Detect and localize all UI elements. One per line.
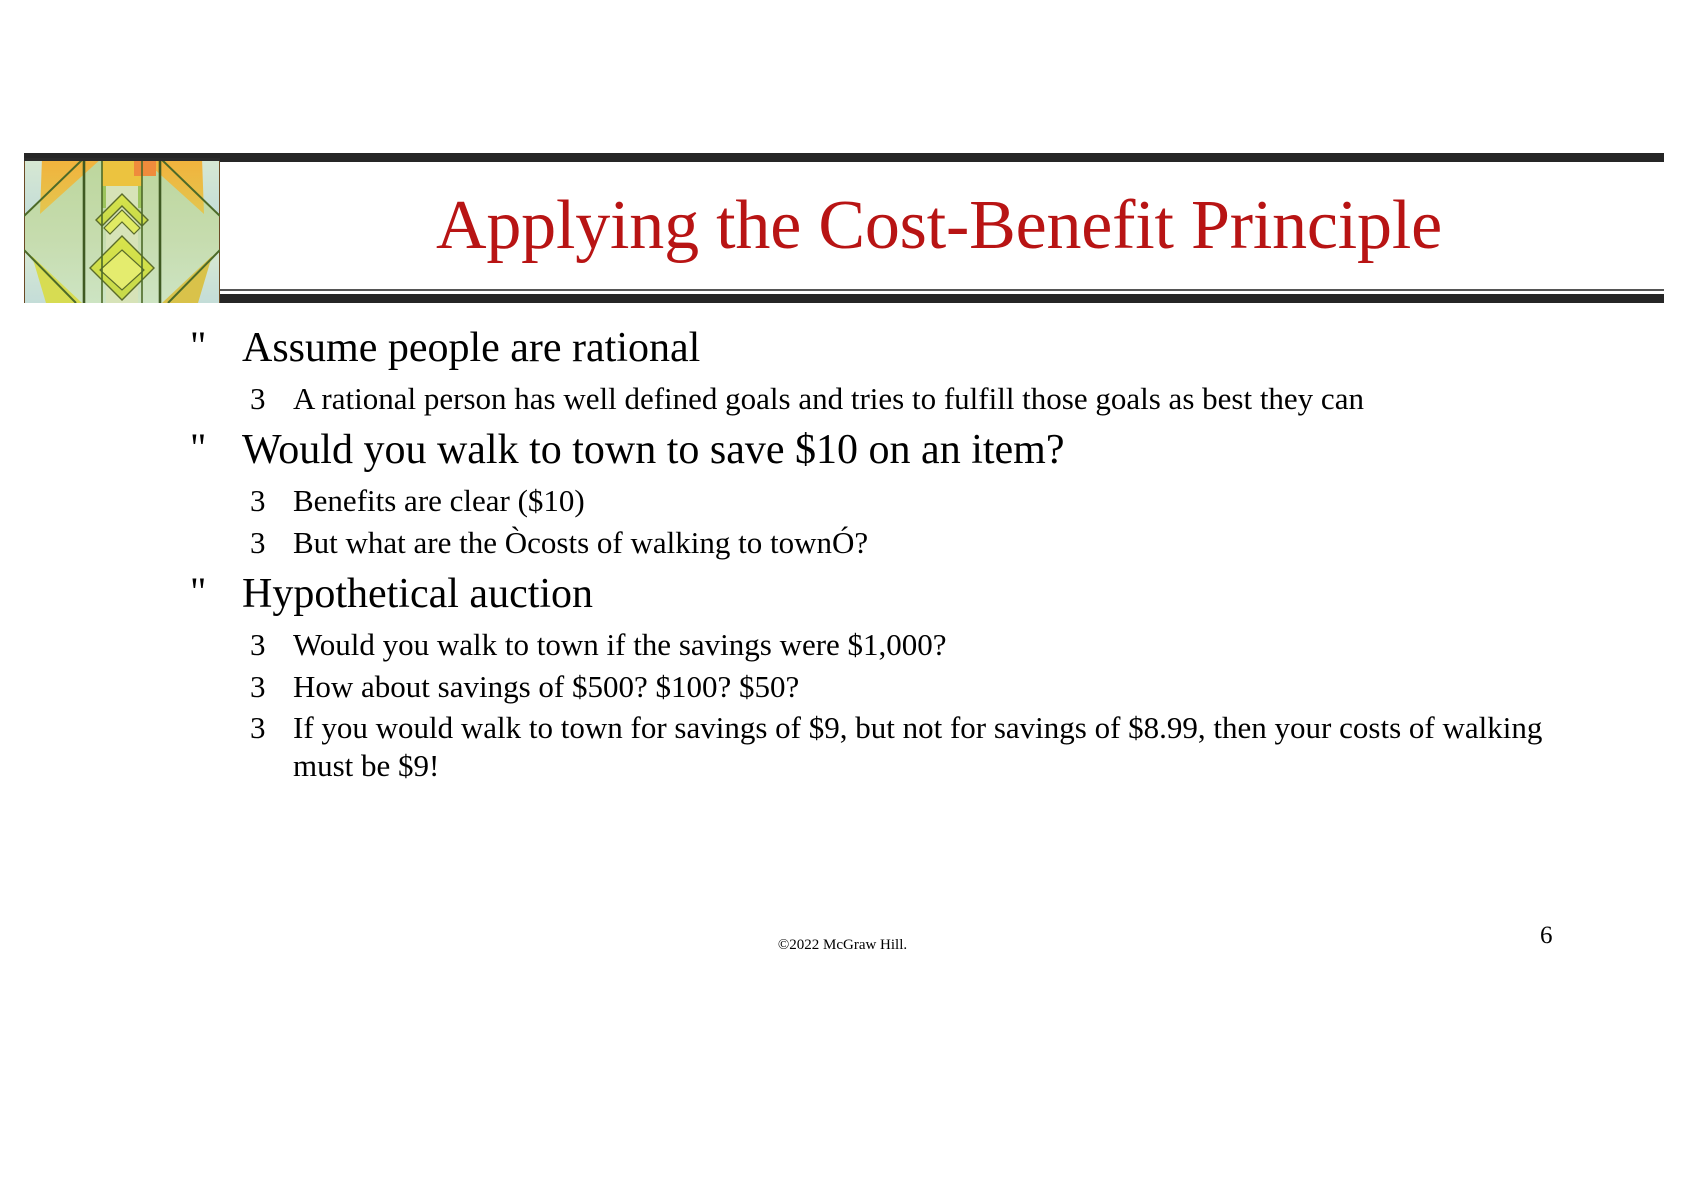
- bullet-marker-level2: 3: [250, 626, 266, 664]
- bullet-marker-level2: 3: [250, 668, 266, 706]
- bullet-level2: 3 Would you walk to town if the savings …: [186, 626, 1586, 664]
- slide-canvas: Applying the Cost-Benefit Principle " As…: [0, 0, 1685, 1191]
- bullet-marker-level2: 3: [250, 524, 266, 562]
- bullet-marker-level1: ": [190, 323, 206, 369]
- bullet-level1-text: Assume people are rational: [242, 325, 700, 371]
- slide-body: " Assume people are rational 3 A rationa…: [186, 325, 1586, 784]
- bullet-level2: 3 But what are the Òcosts of walking to …: [186, 524, 1586, 562]
- page-number: 6: [1540, 922, 1600, 950]
- bullet-marker-level2: 3: [250, 482, 266, 520]
- bullet-level1: " Hypothetical auction: [186, 571, 1586, 619]
- stained-glass-motif-icon: [24, 158, 220, 303]
- bullet-level1: " Would you walk to town to save $10 on …: [186, 427, 1586, 475]
- bullet-marker-level1: ": [190, 425, 206, 471]
- bullet-marker-level2: 3: [250, 380, 266, 418]
- title-band: Applying the Cost-Benefit Principle: [24, 153, 1664, 303]
- bullet-level2: 3 How about savings of $500? $100? $50?: [186, 668, 1586, 706]
- title-rule-bottom: [24, 294, 1664, 303]
- title-rule-bottom-thin: [24, 289, 1664, 291]
- bullet-level2: 3 Benefits are clear ($10): [186, 482, 1586, 520]
- bullet-level1-text: Hypothetical auction: [242, 571, 593, 617]
- bullet-level1-text: Would you walk to town to save $10 on an…: [242, 427, 1065, 473]
- bullet-level2-text: How about savings of $500? $100? $50?: [293, 669, 799, 704]
- bullet-level2-text: If you would walk to town for savings of…: [293, 710, 1542, 783]
- bullet-level2-text: Benefits are clear ($10): [293, 483, 585, 518]
- page-title: Applying the Cost-Benefit Principle: [224, 165, 1654, 287]
- bullet-marker-level1: ": [190, 569, 206, 615]
- bullet-level2-text: A rational person has well defined goals…: [293, 381, 1364, 416]
- title-rule-top: [24, 153, 1664, 162]
- copyright-notice: ©2022 McGraw Hill.: [0, 937, 1685, 954]
- bullet-level2: 3 If you would walk to town for savings …: [186, 709, 1586, 784]
- bullet-marker-level2: 3: [250, 709, 266, 747]
- bullet-level2-text: But what are the Òcosts of walking to to…: [293, 525, 868, 560]
- bullet-level2: 3 A rational person has well defined goa…: [186, 380, 1586, 418]
- bullet-level1: " Assume people are rational: [186, 325, 1586, 373]
- bullet-level2-text: Would you walk to town if the savings we…: [293, 627, 947, 662]
